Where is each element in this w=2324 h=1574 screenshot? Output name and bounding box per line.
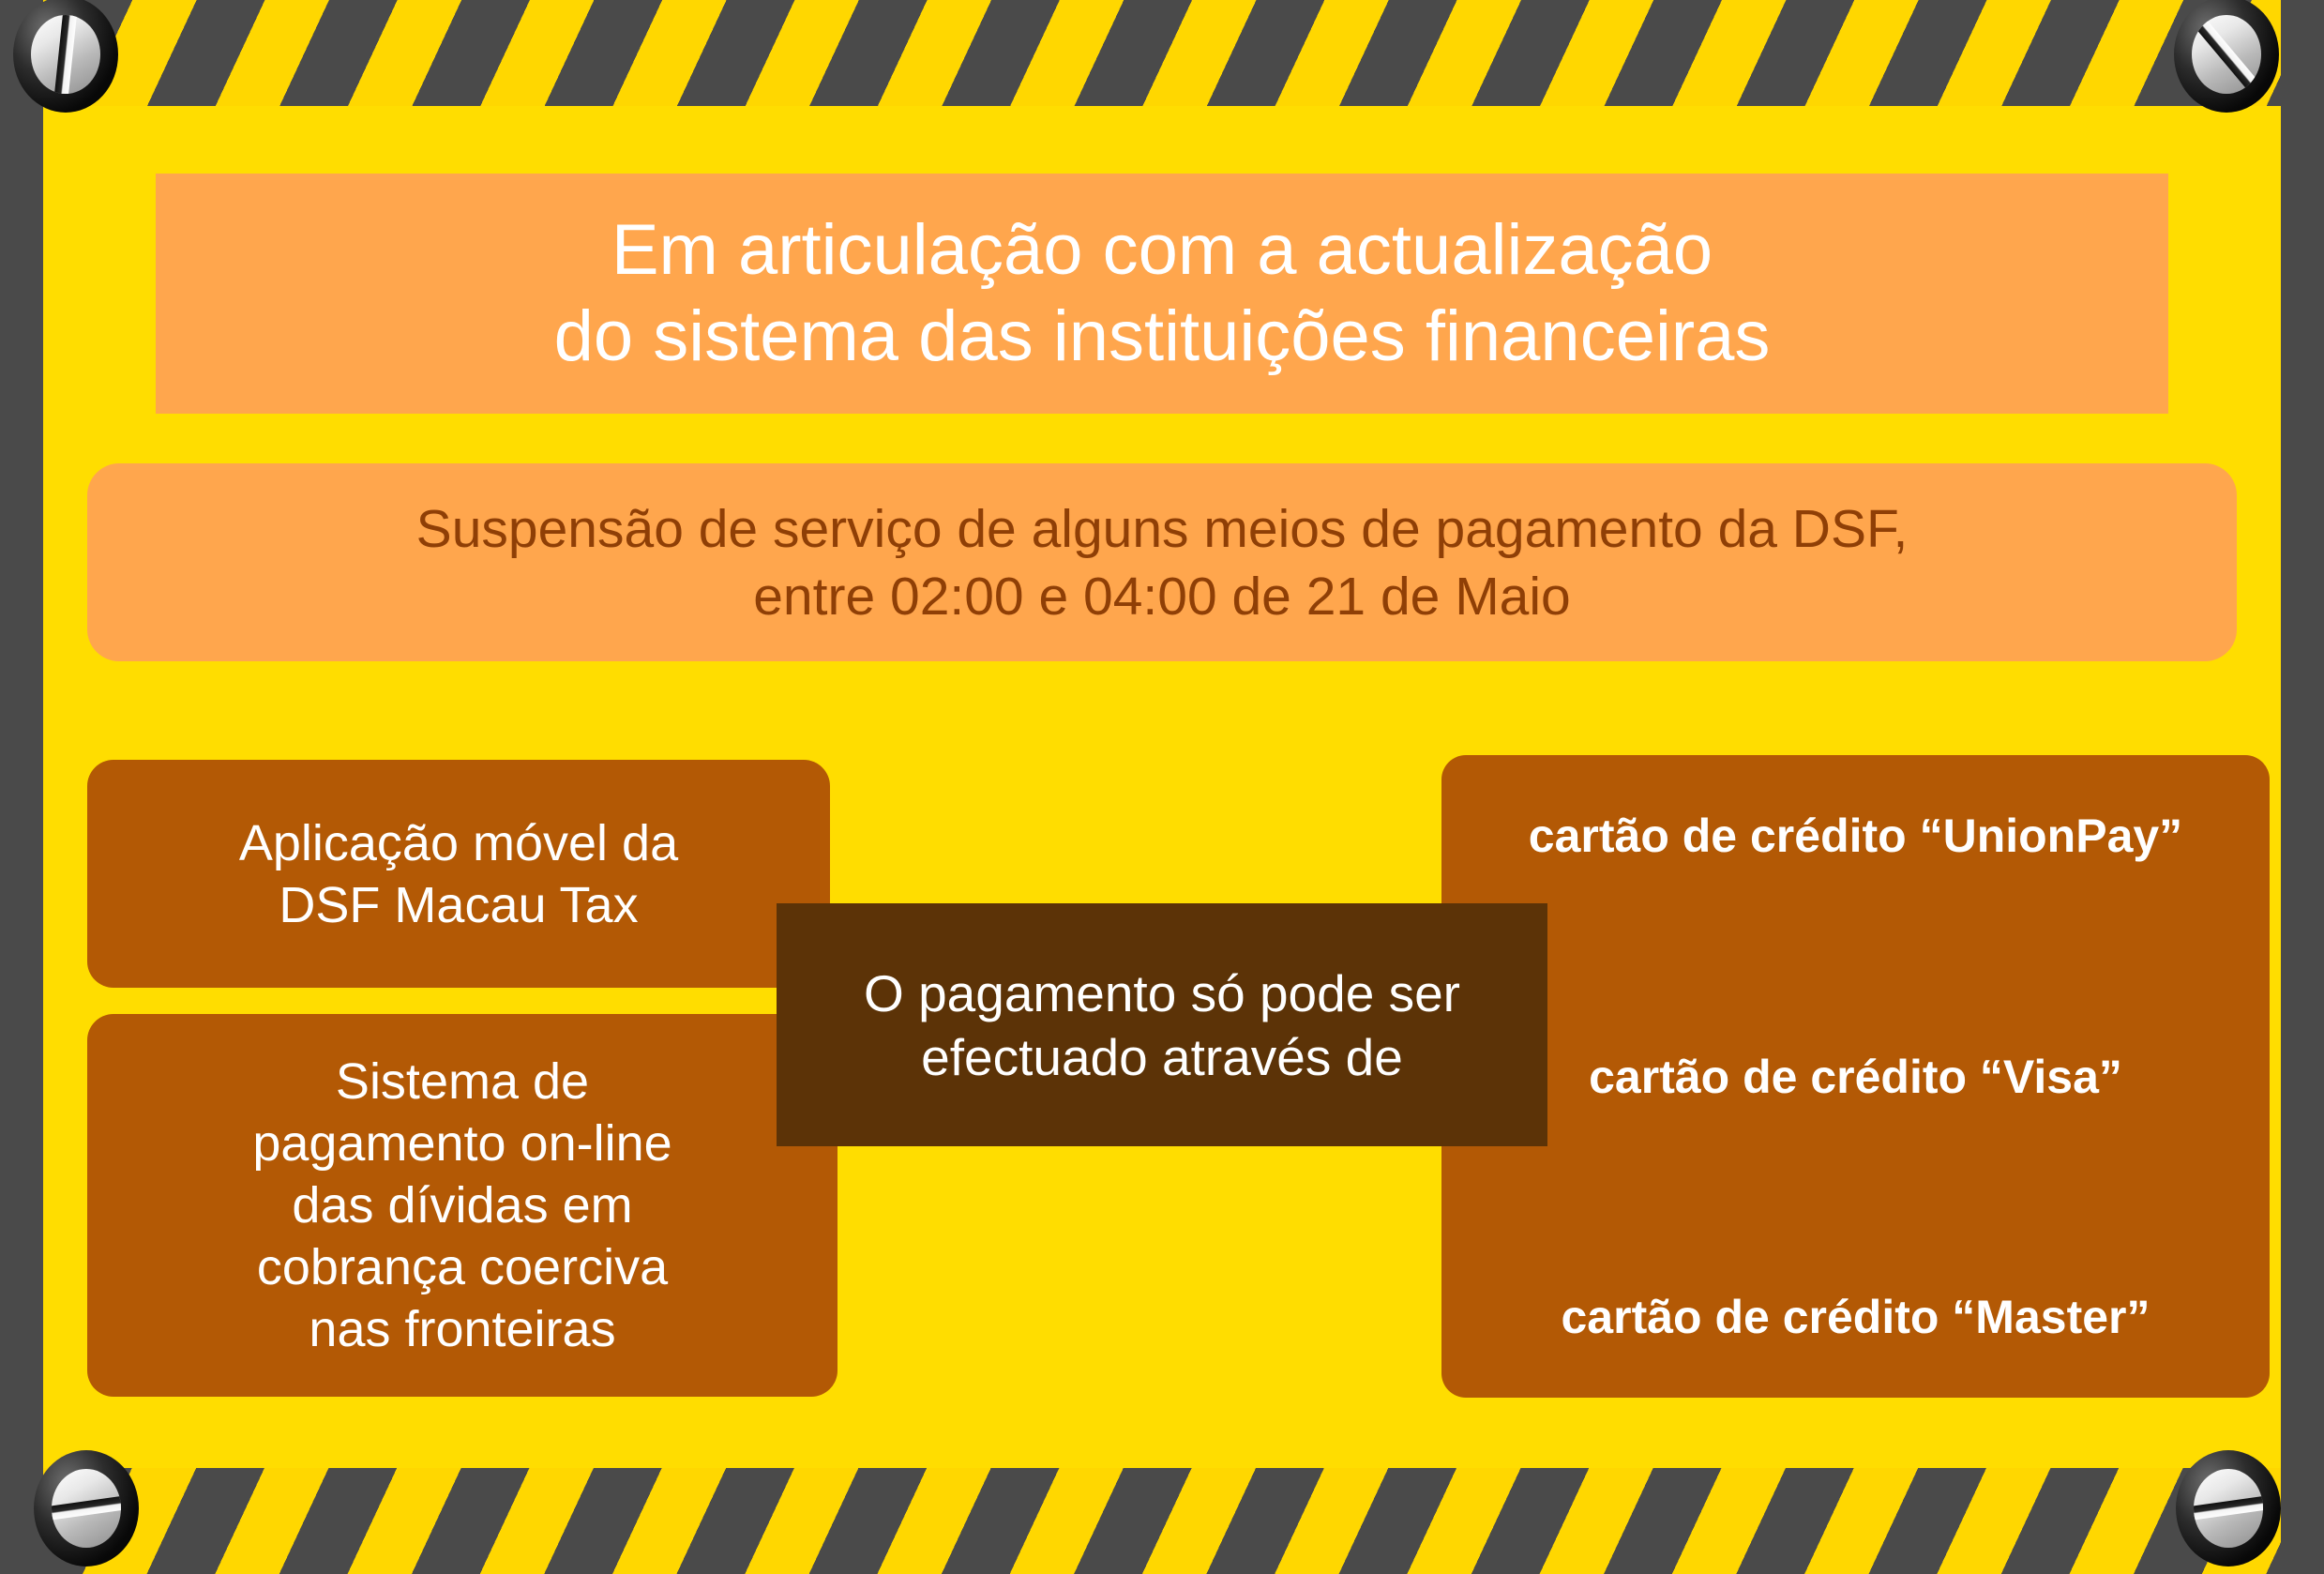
payment-method-unionpay: cartão de crédito “UnionPay”: [1458, 808, 2253, 864]
channel-card-online-payment-line-4: cobrança coerciva: [257, 1236, 668, 1298]
screw-bottom-left-icon: [34, 1450, 139, 1566]
hazard-stripe-top: [0, 0, 2324, 107]
channel-card-online-payment-line-3: das dívidas em: [292, 1174, 632, 1236]
channel-card-mobile-app-line-1: Aplicação móvel da: [239, 812, 678, 874]
warning-poster: Em articulação com a actualização do sis…: [0, 0, 2324, 1574]
hazard-stripe-bottom: [0, 1467, 2324, 1574]
screw-head: [31, 15, 100, 94]
screw-slot: [52, 1492, 121, 1523]
frame-left-edge: [0, 0, 43, 1574]
screw-top-left-icon: [13, 0, 118, 113]
screw-top-right-icon: [2174, 0, 2279, 113]
screw-slot: [2194, 1492, 2263, 1523]
screw-head: [2194, 1469, 2263, 1548]
screw-bottom-right-icon: [2176, 1450, 2281, 1566]
screw-slot: [2192, 15, 2261, 94]
frame-right-edge: [2281, 0, 2324, 1574]
screw-head: [52, 1469, 121, 1548]
screw-slot: [53, 15, 80, 94]
subtitle-line-1: Suspensão de serviço de alguns meios de …: [416, 495, 1909, 563]
payment-callout-line-1: O pagamento só pode ser: [864, 961, 1460, 1025]
payment-method-master: cartão de crédito “Master”: [1458, 1289, 2253, 1345]
header-line-2: do sistema das instituições financeiras: [554, 294, 1771, 380]
subtitle-line-2: entre 02:00 e 04:00 de 21 de Maio: [753, 563, 1571, 630]
channel-card-online-payment-line-2: pagamento on-line: [252, 1112, 672, 1174]
payment-callout: O pagamento só pode ser efectuado atravé…: [777, 903, 1547, 1146]
header-line-1: Em articulação com a actualização: [611, 207, 1713, 294]
payment-method-visa: cartão de crédito “Visa”: [1458, 1049, 2253, 1105]
subtitle-banner: Suspensão de serviço de alguns meios de …: [87, 463, 2237, 661]
channel-card-online-payment-line-1: Sistema de: [336, 1051, 589, 1112]
channel-card-mobile-app: Aplicação móvel da DSF Macau Tax: [87, 760, 830, 988]
payment-callout-line-2: efectuado através de: [921, 1025, 1403, 1089]
channel-card-mobile-app-line-2: DSF Macau Tax: [279, 874, 638, 936]
channel-card-online-payment: Sistema de pagamento on-line das dívidas…: [87, 1014, 838, 1397]
screw-head: [2192, 15, 2261, 94]
channel-card-online-payment-line-5: nas fronteiras: [309, 1298, 615, 1360]
payment-methods-panel: cartão de crédito “UnionPay” cartão de c…: [1441, 755, 2270, 1398]
header-banner: Em articulação com a actualização do sis…: [156, 174, 2168, 414]
